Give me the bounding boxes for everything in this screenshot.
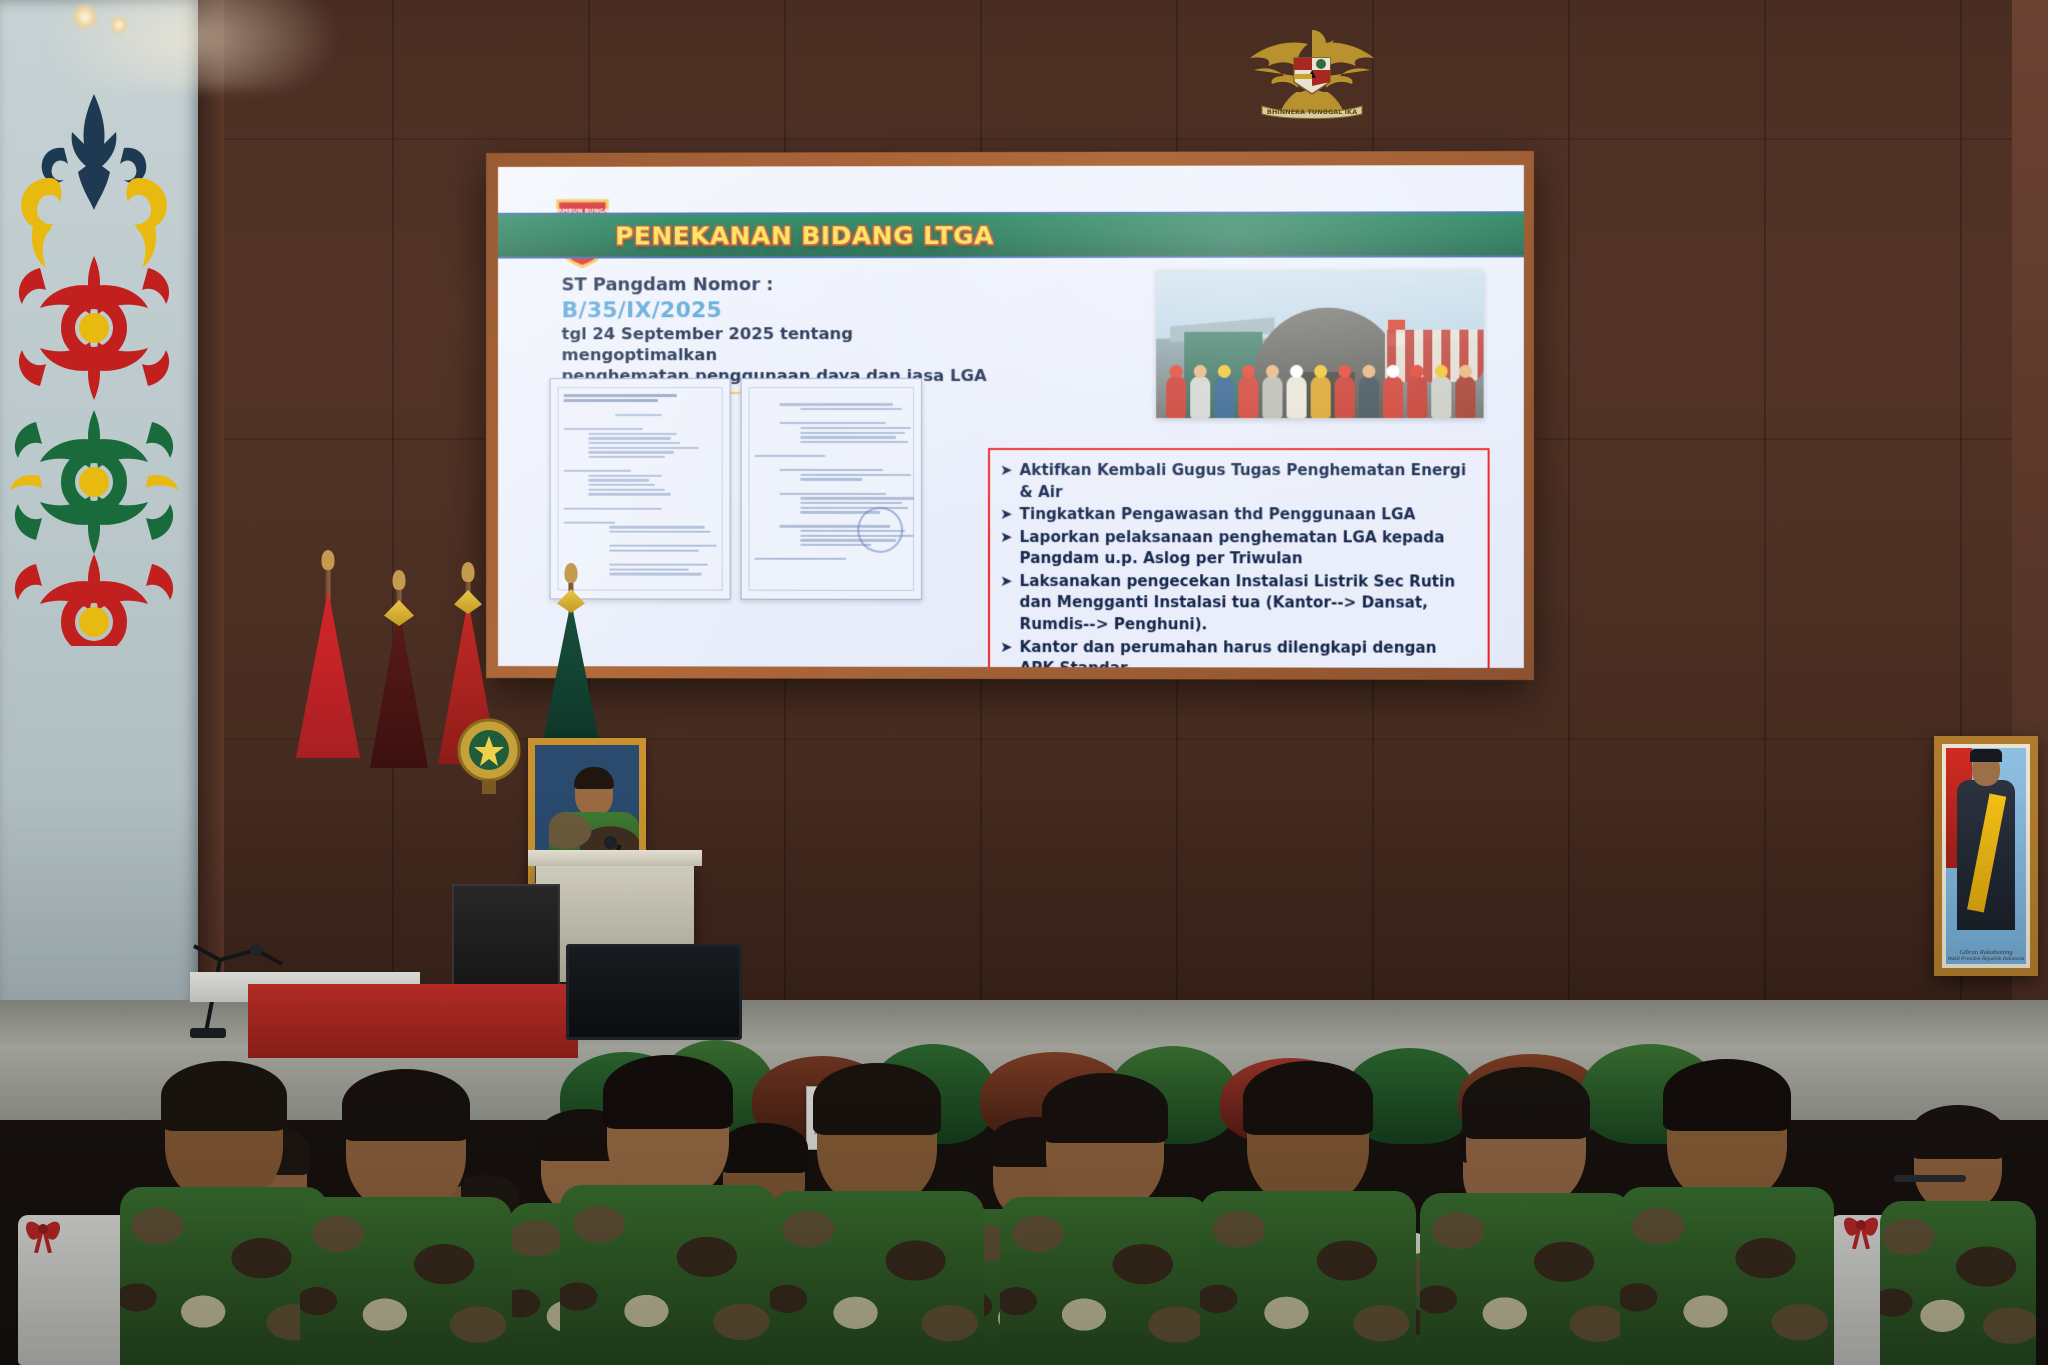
vice-president-portrait: Gibran Rakabuming Wakil Presiden Republi… xyxy=(1934,736,2038,976)
bullet-item: ➤ Kantor dan perumahan harus dilengkapi … xyxy=(1000,637,1476,668)
dayak-floral-ornament xyxy=(6,86,182,646)
unit-crest-stand xyxy=(452,712,526,794)
unit-pennant-green xyxy=(540,575,602,755)
st-subject-line-1: tgl 24 September 2025 tentang mengoptima… xyxy=(562,324,990,366)
bullet-text: Aktifkan Kembali Gugus Tugas Penghematan… xyxy=(1020,460,1476,503)
presentation-slide: TAMBUN BUNGAI xyxy=(498,165,1524,668)
slide-title-band: PENEKANAN BIDANG LTGA xyxy=(498,211,1524,258)
slide-title: PENEKANAN BIDANG LTGA xyxy=(615,221,994,250)
bullet-item: ➤ Tingkatkan Pengawasan thd Penggunaan L… xyxy=(1000,504,1476,526)
indonesian-flag xyxy=(296,562,360,758)
st-label: ST Pangdam Nomor : xyxy=(562,274,990,297)
telegram-document-scans xyxy=(550,378,922,600)
audience-member xyxy=(300,1073,512,1365)
audience-member xyxy=(770,1067,984,1365)
bullet-text: Kantor dan perumahan harus dilengkapi de… xyxy=(1020,637,1476,668)
audience-member xyxy=(1620,1063,1834,1365)
audience-member xyxy=(1200,1065,1416,1365)
bullet-arrow-icon: ➤ xyxy=(1000,504,1013,526)
audience-member xyxy=(1000,1077,1210,1365)
bullet-text: Laksanakan pengecekan Instalasi Listrik … xyxy=(1020,571,1476,636)
audience-member xyxy=(1880,1109,2036,1365)
officer-hair xyxy=(574,767,614,789)
telegram-page-2 xyxy=(741,378,922,600)
portrait-title: Wakil Presiden Republik Indonesia xyxy=(1946,956,2026,962)
st-number: B/35/IX/2025 xyxy=(562,297,990,325)
audience-member xyxy=(120,1065,328,1365)
photo-crowd xyxy=(1156,360,1483,418)
bullet-text: Tingkatkan Pengawasan thd Penggunaan LGA xyxy=(1020,504,1416,526)
portrait-peci-cap xyxy=(1970,749,2002,762)
projection-screen: TAMBUN BUNGAI xyxy=(486,151,1534,680)
bullet-arrow-icon: ➤ xyxy=(1000,571,1013,636)
left-wall-frame xyxy=(198,0,224,1040)
garuda-pancasila-emblem: BHINNEKA TUNGGAL IKA xyxy=(1238,14,1386,120)
unit-pennant-maroon xyxy=(370,582,428,768)
audience-member xyxy=(560,1059,776,1365)
bullet-arrow-icon: ➤ xyxy=(1000,460,1013,503)
emphasis-bullet-box: ➤ Aktifkan Kembali Gugus Tugas Penghemat… xyxy=(988,448,1490,668)
st-reference-block: ST Pangdam Nomor : B/35/IX/2025 tgl 24 S… xyxy=(562,274,990,394)
garuda-motto-text: BHINNEKA TUNGGAL IKA xyxy=(1267,108,1357,116)
eyeglasses-icon xyxy=(1894,1175,1966,1182)
chair-ribbon-bow xyxy=(22,1207,64,1253)
portrait-name: Gibran Rakabuming xyxy=(1946,949,2026,956)
chair-ribbon-bow xyxy=(1840,1203,1882,1249)
ceiling-spotlight xyxy=(110,16,128,34)
bullet-item: ➤ Aktifkan Kembali Gugus Tugas Penghemat… xyxy=(1000,460,1476,503)
bullet-text: Laporkan pelaksanaan penghematan LGA kep… xyxy=(1020,527,1476,571)
activity-photo xyxy=(1156,269,1483,418)
bullet-item: ➤ Laporkan pelaksanaan penghematan LGA k… xyxy=(1000,527,1476,571)
telegram-page-1 xyxy=(550,378,731,600)
audience-member xyxy=(1420,1071,1632,1365)
audience-seating xyxy=(0,1010,2048,1365)
microphone-head xyxy=(604,836,617,849)
bullet-item: ➤ Laksanakan pengecekan Instalasi Listri… xyxy=(1000,571,1476,637)
conference-hall-scene: BHINNEKA TUNGGAL IKA TAMBUN BUNGAI xyxy=(0,0,2048,1365)
ceiling-spotlight xyxy=(72,4,98,30)
bullet-arrow-icon: ➤ xyxy=(1000,637,1013,668)
podium-top xyxy=(528,850,702,866)
bullet-arrow-icon: ➤ xyxy=(1000,527,1013,570)
